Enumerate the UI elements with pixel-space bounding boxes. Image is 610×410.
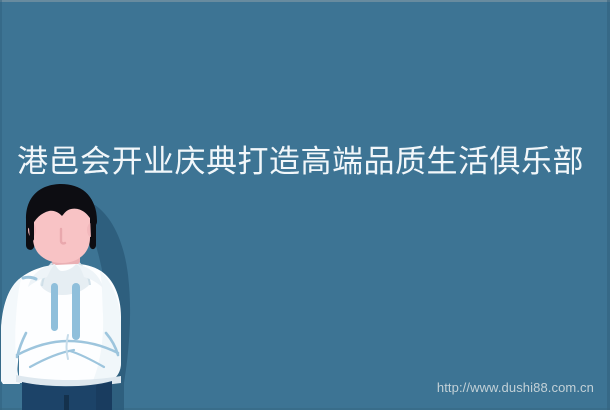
page-title: 港邑会开业庆典打造高端品质生活俱乐部 — [17, 143, 595, 181]
banner-top-edge — [0, 0, 610, 2]
promo-banner: 港邑会开业庆典打造高端品质生活俱乐部 http://www.dushi88.co… — [0, 0, 610, 410]
watermark-url: http://www.dushi88.com.cn — [437, 380, 594, 396]
hoodie-man-illustration — [0, 183, 150, 410]
